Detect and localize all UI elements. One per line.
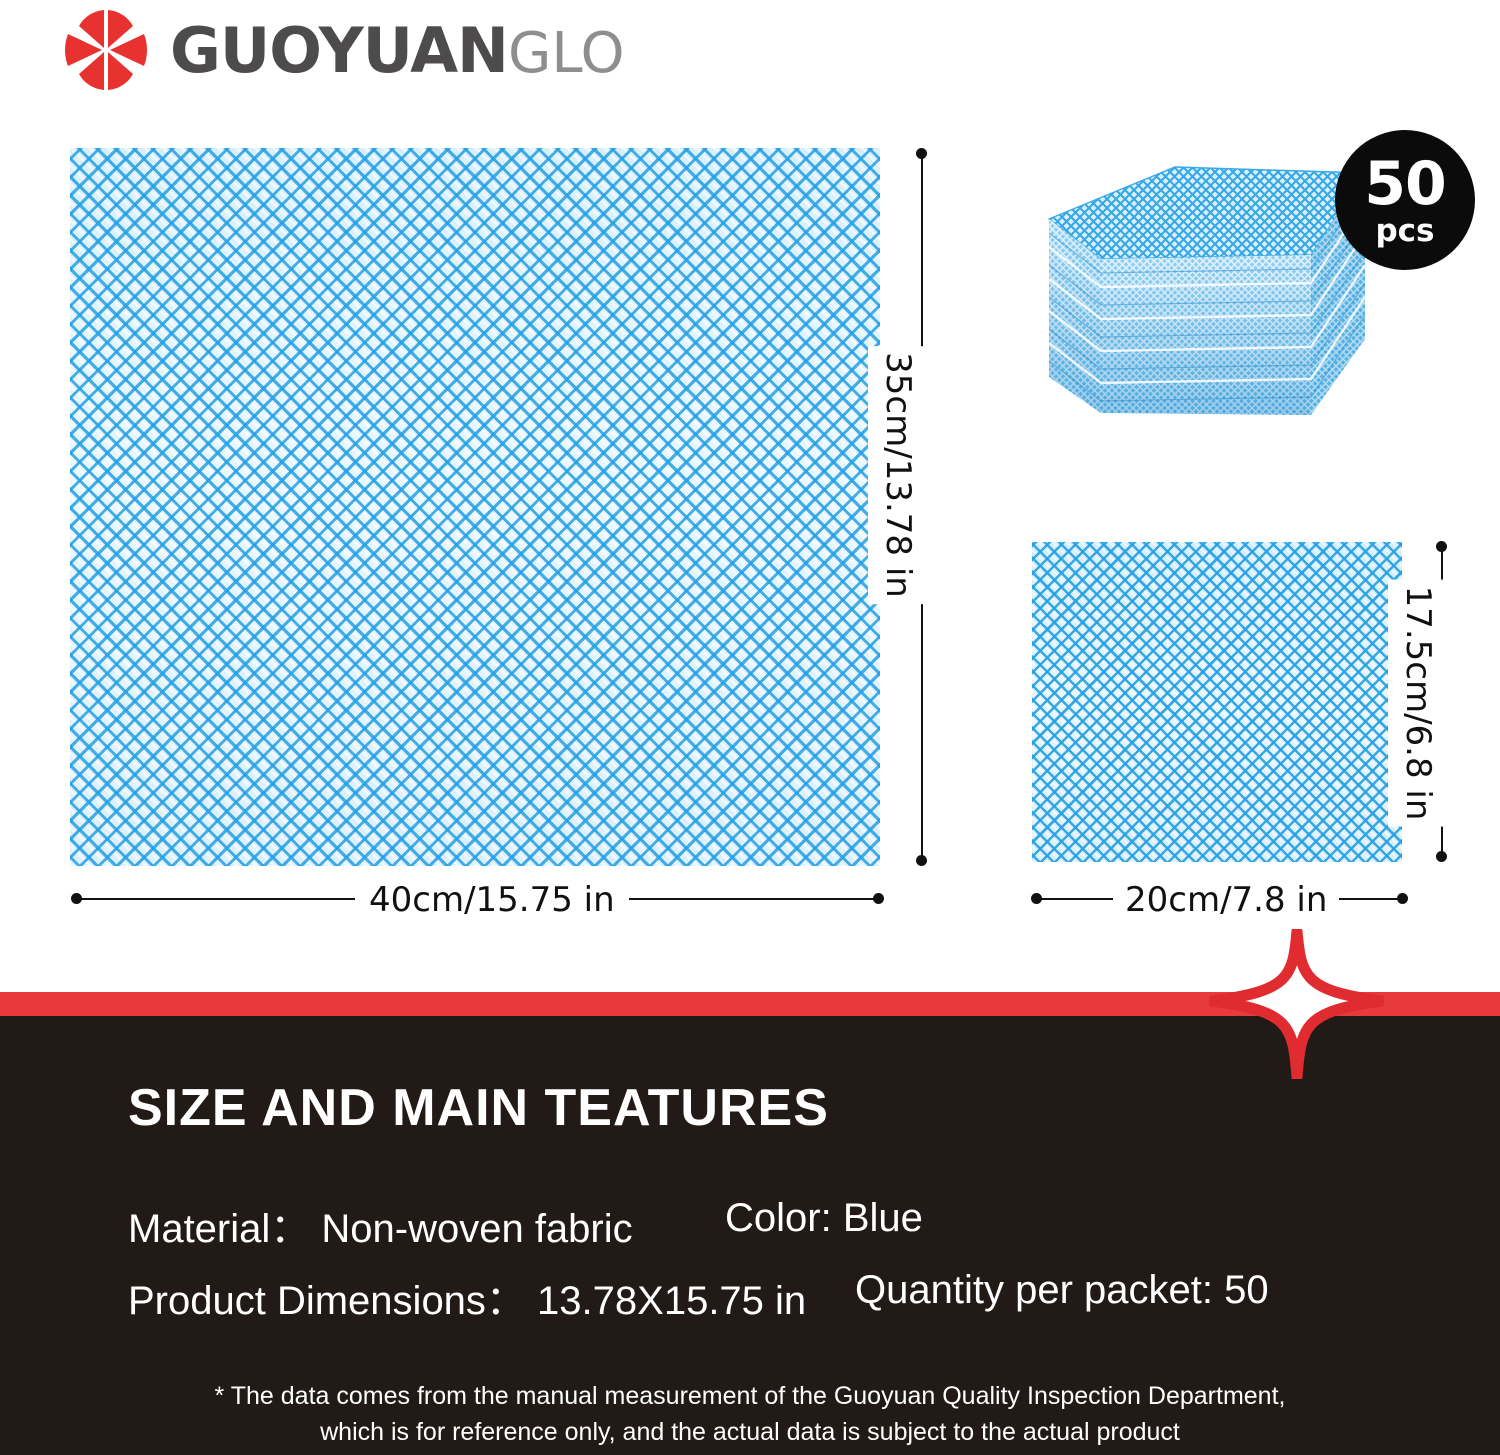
spec-material: Material： Non-woven fabric — [128, 1196, 633, 1254]
dimension-label-large-width: 40cm/15.75 in — [355, 878, 629, 922]
footnote-line-2: which is for reference only, and the act… — [0, 1414, 1500, 1450]
brand-name-primary: GUOYUAN — [170, 14, 508, 87]
dimension-label-small-height: 17.5cm/6.8 in — [1388, 580, 1448, 827]
dimension-endpoint-small-height-bottom — [1436, 851, 1447, 862]
brand-header: GUOYUAN GLO — [60, 5, 625, 95]
dimension-label-large-height: 35cm/13.78 in — [868, 346, 928, 604]
dimension-endpoint-large-width-left — [71, 893, 82, 904]
brand-wordmark: GUOYUAN GLO — [170, 14, 625, 87]
spec-quantity-per-packet: Quantity per packet: 50 — [855, 1268, 1269, 1313]
dimension-label-small-width: 20cm/7.8 in — [1113, 878, 1339, 922]
quantity-badge: 50 pcs — [1335, 130, 1475, 270]
footnote-line-1: * The data comes from the manual measure… — [0, 1378, 1500, 1414]
badge-count-value: 50 — [1364, 154, 1446, 214]
brand-name-secondary: GLO — [508, 21, 625, 86]
product-image-small-cloth — [1032, 542, 1402, 862]
dimension-endpoint-small-height-top — [1436, 541, 1447, 552]
dimension-endpoint-small-width-left — [1031, 893, 1042, 904]
spec-product-dimensions: Product Dimensions： 13.78X15.75 in — [128, 1268, 806, 1326]
badge-unit-label: pcs — [1375, 216, 1434, 247]
flower-petal-logo-icon — [60, 6, 152, 94]
product-image-large-cloth — [70, 148, 880, 866]
product-image-cloth-stack — [1035, 163, 1365, 431]
footnote: * The data comes from the manual measure… — [0, 1378, 1500, 1451]
dimension-endpoint-large-width-right — [873, 893, 884, 904]
four-point-star-icon — [1209, 929, 1384, 1079]
dimension-endpoint-small-width-right — [1397, 893, 1408, 904]
dimension-endpoint-large-height-bottom — [916, 855, 927, 866]
panel-heading: SIZE AND MAIN TEATURES — [128, 1078, 829, 1138]
spec-color: Color: Blue — [725, 1196, 923, 1241]
dimension-endpoint-large-height-top — [916, 148, 927, 159]
